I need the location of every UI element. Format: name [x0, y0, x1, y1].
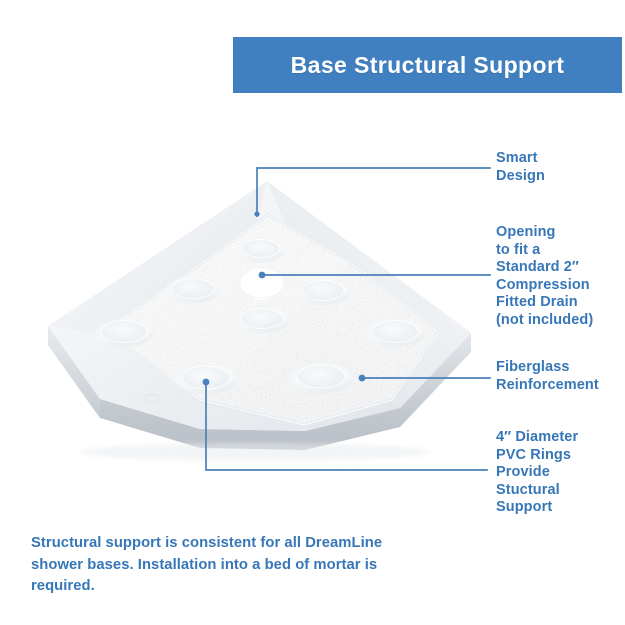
- pvc-ring: [166, 277, 220, 303]
- leader-endpoint-dots: [203, 211, 366, 385]
- callout-drain-opening: Opening to fit a Standard 2″ Compression…: [496, 224, 593, 329]
- footer-caption: Structural support is consistent for all…: [31, 533, 431, 598]
- header-banner: Base Structural Support: [233, 37, 622, 93]
- pvc-ring: [175, 364, 237, 394]
- fiberglass-texture: [90, 205, 460, 440]
- base-floor-pan: [90, 205, 460, 440]
- callout-pvc-rings: 4″ Diameter PVC Rings Provide Stuctural …: [496, 429, 578, 517]
- pvc-ring: [366, 319, 424, 347]
- drain-opening: [240, 268, 284, 300]
- leader-smart-design: [257, 168, 490, 216]
- pvc-ring: [95, 319, 153, 347]
- leader-dot-drain: [259, 272, 266, 279]
- base-outer-rim: [48, 181, 471, 431]
- callout-fiberglass-reinforcement: Fiberglass Reinforcement: [496, 359, 599, 394]
- pvc-support-rings: [95, 238, 424, 394]
- mould-mark: [146, 395, 158, 402]
- leader-dot-pvc: [203, 379, 210, 386]
- callout-smart-design: Smart Design: [496, 150, 545, 185]
- page-title: Base Structural Support: [291, 52, 565, 79]
- leader-dot-fiberglass: [359, 375, 366, 382]
- pvc-ring: [235, 307, 289, 333]
- pvc-ring: [237, 238, 285, 262]
- leader-pvc-rings: [206, 384, 487, 470]
- infographic-canvas: Base Structural Support: [0, 0, 625, 625]
- pvc-ring: [290, 363, 352, 393]
- leader-dot-smart-design: [254, 211, 259, 216]
- base-side-walls: [48, 326, 471, 450]
- pvc-ring: [296, 279, 350, 305]
